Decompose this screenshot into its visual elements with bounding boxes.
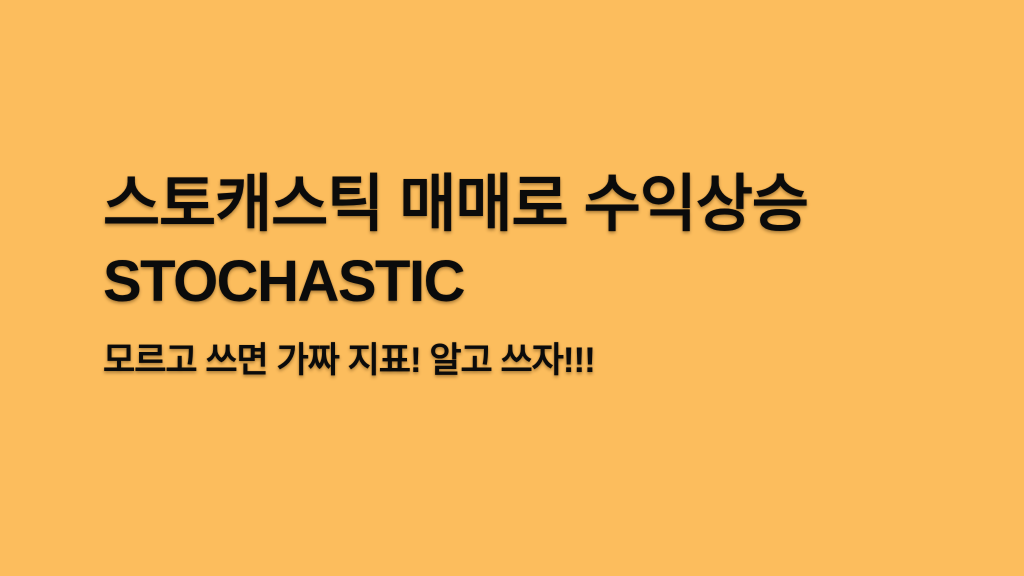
- headline-latin: STOCHASTIC: [103, 246, 963, 318]
- slide-canvas: 스토캐스틱 매매로 수익상승 STOCHASTIC 모르고 쓰면 가짜 지표! …: [0, 0, 1024, 576]
- title-text-block: 스토캐스틱 매매로 수익상승 STOCHASTIC 모르고 쓰면 가짜 지표! …: [103, 166, 963, 384]
- subheadline: 모르고 쓰면 가짜 지표! 알고 쓰자!!!: [103, 338, 963, 384]
- headline-korean: 스토캐스틱 매매로 수익상승: [103, 166, 963, 244]
